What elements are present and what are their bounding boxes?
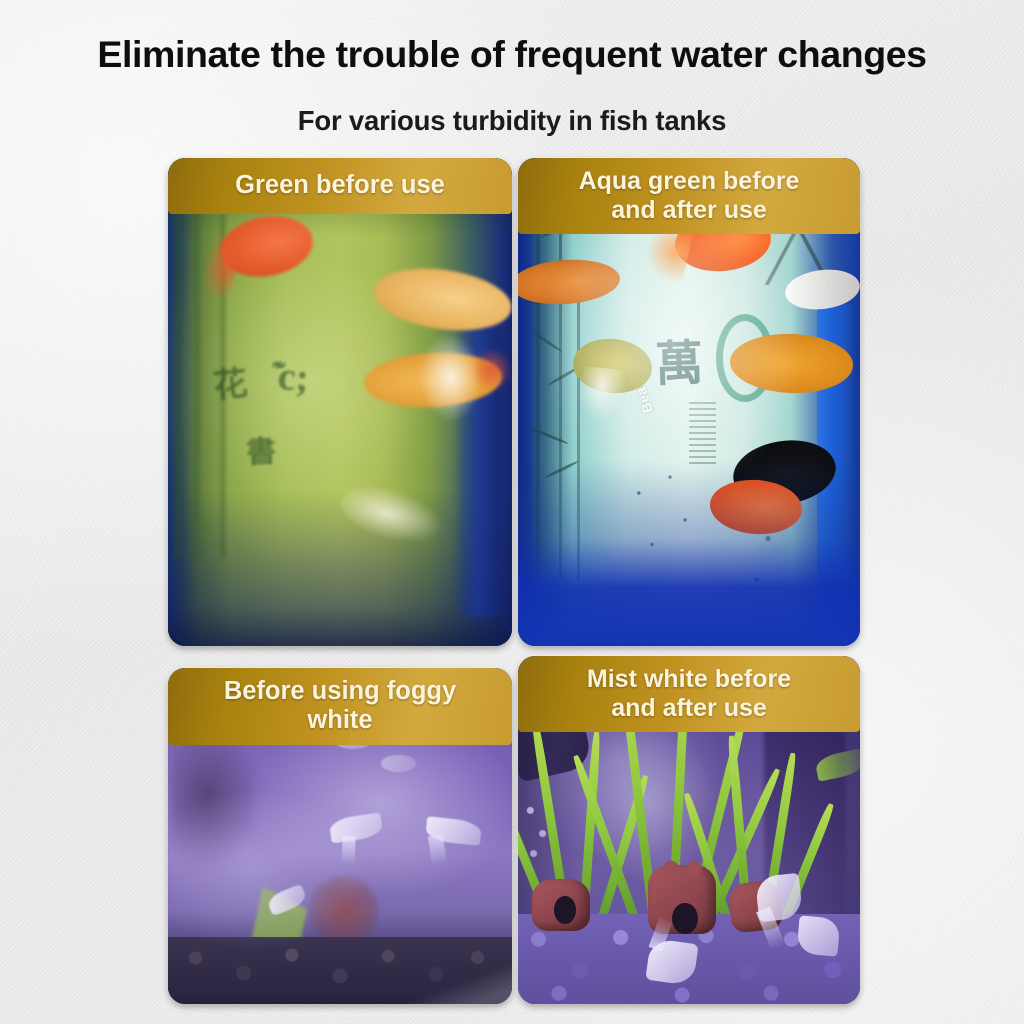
card-mist-white-before-after[interactable]: Mist white before and after use <box>518 656 860 1004</box>
ornament-ears <box>662 858 703 875</box>
card-label-line: Mist white before <box>526 665 852 694</box>
goldfish <box>471 348 512 392</box>
card-label-mist-white: Mist white before and after use <box>518 656 860 732</box>
card-label-line: Aqua green before <box>526 167 852 196</box>
card-label-line: Green before use <box>176 171 504 200</box>
comparison-card-grid: 花 ͊c; 書 Green before use <box>168 158 860 1004</box>
pot-opening <box>672 903 698 934</box>
page-title: Eliminate the trouble of frequent water … <box>0 33 1024 76</box>
card-label-green-before: Green before use <box>168 158 512 214</box>
card-label-foggy-white: Before using foggy white <box>168 668 512 745</box>
card-label-line: and after use <box>526 196 852 225</box>
header-section: Eliminate the trouble of frequent water … <box>0 0 1024 137</box>
card-label-aqua-green: Aqua green before and after use <box>518 158 860 234</box>
card-label-line: and after use <box>526 694 852 723</box>
photo-green-murky-tank: 花 ͊c; 書 <box>168 158 512 646</box>
card-aqua-green-before-after[interactable]: 萬 Beauty Aqua green before and after use <box>518 158 860 646</box>
card-label-line: white <box>176 706 504 735</box>
pot-opening <box>554 896 576 924</box>
card-label-line: Before using foggy <box>176 677 504 706</box>
card-foggy-white-before[interactable]: Before using foggy white <box>168 668 512 1004</box>
card-green-before[interactable]: 花 ͊c; 書 Green before use <box>168 158 512 646</box>
page-subtitle: For various turbidity in fish tanks <box>0 105 1024 137</box>
